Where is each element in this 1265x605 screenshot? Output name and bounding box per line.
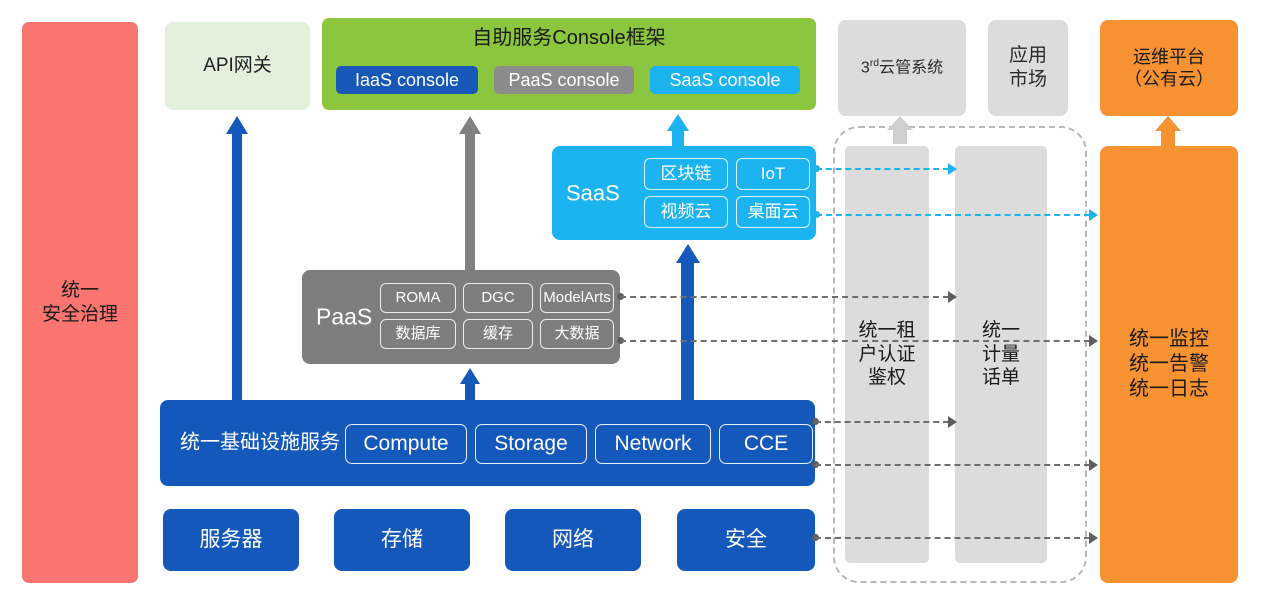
ops-platform-line-2: （公有云）	[1124, 68, 1214, 91]
saas-service-video-cloud[interactable]: 视频云	[644, 196, 728, 228]
connector-arrow-icon	[948, 416, 957, 428]
connector-arrow-icon	[1089, 209, 1098, 221]
arrow-shaft	[1161, 129, 1175, 148]
app-market-line-2: 市场	[1009, 68, 1047, 92]
application-market-label: 应用 市场	[1009, 44, 1047, 92]
iaas-service-storage[interactable]: Storage	[475, 424, 587, 464]
arrow-shaft	[465, 132, 475, 270]
arrow-iaas-to-paas	[465, 368, 475, 400]
arrow-shaft	[672, 129, 684, 148]
unified-metering-billing-label: 统一 计量 话单	[982, 319, 1020, 390]
api-gateway-box[interactable]: API网关	[165, 22, 310, 110]
connector-saas-to-ops	[816, 214, 1090, 216]
monitoring-line-2: 统一告警	[1129, 352, 1209, 377]
unified-infrastructure-service-bar[interactable]: 统一基础设施服务 Compute Storage Network CCE	[160, 400, 815, 486]
paas-service-dgc[interactable]: DGC	[463, 283, 533, 313]
connector-arrow-icon	[1089, 459, 1098, 471]
arrow-shaft	[681, 261, 694, 400]
security-line-1: 统一	[42, 279, 118, 303]
self-service-console-frame[interactable]: 自助服务Console框架 IaaS console PaaS console …	[322, 18, 816, 110]
connector-arrow-icon	[948, 291, 957, 303]
paas-service-cache[interactable]: 缓存	[463, 319, 533, 349]
arrow-iaas-to-saas	[681, 244, 694, 400]
saas-console-chip[interactable]: SaaS console	[650, 66, 800, 94]
hardware-security-box[interactable]: 安全	[677, 509, 815, 571]
hardware-network-box[interactable]: 网络	[505, 509, 641, 571]
paas-service-database[interactable]: 数据库	[380, 319, 456, 349]
ops-platform-label: 运维平台 （公有云）	[1124, 46, 1214, 91]
paas-service-modelarts[interactable]: ModelArts	[540, 283, 614, 313]
hardware-storage-box[interactable]: 存储	[334, 509, 470, 571]
security-line-2: 安全治理	[42, 303, 118, 327]
unified-tenant-auth-column[interactable]: 统一租 户认证 鉴权	[845, 146, 929, 563]
arrow-shared-to-third-party-cloud	[893, 116, 907, 144]
metering-line-2: 计量	[982, 343, 1020, 367]
connector-arrow-icon	[948, 163, 957, 175]
ops-platform-box[interactable]: 运维平台 （公有云）	[1100, 20, 1238, 116]
unified-monitoring-box[interactable]: 统一监控 统一告警 统一日志	[1100, 146, 1238, 583]
connector-saas-to-auth	[816, 168, 949, 170]
api-gateway-label: API网关	[203, 54, 272, 78]
metering-line-3: 话单	[982, 366, 1020, 390]
app-market-line-1: 应用	[1009, 44, 1047, 68]
third-superscript: rd	[870, 58, 879, 69]
connector-paas-to-ops	[620, 340, 1090, 342]
connector-arrow-icon	[1089, 335, 1098, 347]
iaas-console-chip[interactable]: IaaS console	[336, 66, 478, 94]
third-prefix: 3	[861, 60, 870, 77]
ops-platform-line-1: 运维平台	[1124, 46, 1214, 69]
connector-hardware-to-ops	[815, 537, 1090, 539]
unified-security-governance-label: 统一 安全治理	[42, 279, 118, 327]
iaas-layer-label: 统一基础设施服务	[180, 431, 340, 456]
saas-layer-box[interactable]: SaaS 区块链 IoT 视频云 桌面云	[552, 146, 816, 240]
unified-tenant-auth-label: 统一租 户认证 鉴权	[858, 319, 915, 390]
application-market-box[interactable]: 应用 市场	[988, 20, 1068, 116]
unified-metering-billing-column[interactable]: 统一 计量 话单	[955, 146, 1047, 563]
arrow-shaft	[465, 382, 475, 400]
paas-layer-box[interactable]: PaaS ROMA DGC ModelArts 数据库 缓存 大数据	[302, 270, 620, 364]
paas-service-roma[interactable]: ROMA	[380, 283, 456, 313]
unified-monitoring-label: 统一监控 统一告警 统一日志	[1129, 327, 1209, 402]
third-suffix: 云管系统	[879, 60, 943, 77]
saas-service-iot[interactable]: IoT	[736, 158, 810, 190]
arrow-shaft	[893, 128, 907, 144]
console-frame-title: 自助服务Console框架	[322, 26, 816, 51]
saas-service-blockchain[interactable]: 区块链	[644, 158, 728, 190]
monitoring-line-1: 统一监控	[1129, 327, 1209, 352]
unified-security-governance-box[interactable]: 统一 安全治理	[22, 22, 138, 583]
connector-iaas-to-auth	[815, 421, 949, 423]
third-party-cloud-label: 3rd云管系统	[861, 57, 943, 78]
arrow-saas-to-saas-console	[672, 114, 684, 148]
architecture-diagram: 统一 安全治理 API网关 自助服务Console框架 IaaS console…	[0, 0, 1265, 605]
iaas-service-cce[interactable]: CCE	[719, 424, 813, 464]
auth-line-3: 鉴权	[858, 366, 915, 390]
third-party-cloud-management-box[interactable]: 3rd云管系统	[838, 20, 966, 116]
iaas-service-compute[interactable]: Compute	[345, 424, 467, 464]
iaas-service-network[interactable]: Network	[595, 424, 711, 464]
auth-line-2: 户认证	[858, 343, 915, 367]
arrow-paas-to-paas-console	[465, 116, 475, 270]
saas-layer-label: SaaS	[566, 179, 620, 207]
connector-arrow-icon	[1089, 532, 1098, 544]
paas-layer-label: PaaS	[316, 303, 372, 332]
connector-iaas-to-ops	[815, 464, 1090, 466]
monitoring-line-3: 统一日志	[1129, 377, 1209, 402]
paas-service-bigdata[interactable]: 大数据	[540, 319, 614, 349]
connector-paas-to-auth	[620, 296, 949, 298]
saas-service-desktop-cloud[interactable]: 桌面云	[736, 196, 810, 228]
arrow-iaas-to-api-gateway	[232, 116, 242, 400]
arrow-ops-tall-to-ops-platform	[1161, 116, 1175, 148]
arrow-shaft	[232, 132, 242, 400]
paas-console-chip[interactable]: PaaS console	[494, 66, 634, 94]
hardware-server-box[interactable]: 服务器	[163, 509, 299, 571]
